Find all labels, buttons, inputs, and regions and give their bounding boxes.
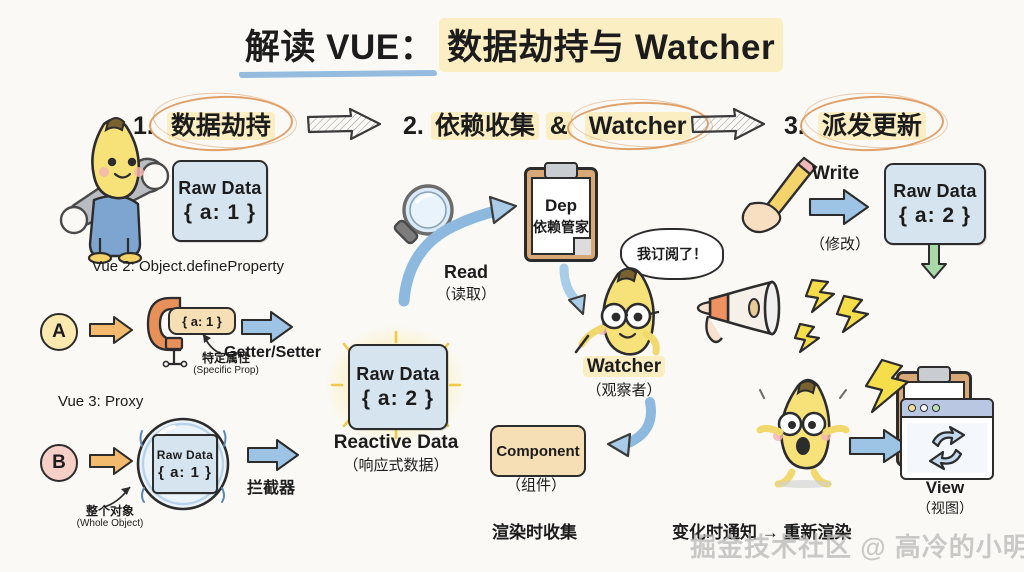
data-to-dep-arrow bbox=[920, 242, 948, 280]
proxy-raw-data-box: Raw Data { a: 1 } bbox=[152, 434, 218, 494]
raw-data-updated-title: Raw Data bbox=[893, 181, 976, 202]
raw-data-updated-value: { a: 2 } bbox=[899, 204, 971, 228]
page-title-segment-1: 解读 VUE： bbox=[241, 19, 439, 70]
view-browser-window bbox=[900, 398, 994, 480]
write-label-en: Write bbox=[812, 163, 859, 185]
option-b-badge: B bbox=[40, 444, 78, 482]
getter-setter-arrow bbox=[240, 310, 294, 344]
watcher-label-group: Watcher （观察者） bbox=[568, 356, 680, 400]
watermark: 掘金技术社区 @ 高冷的小明 bbox=[690, 527, 1024, 564]
browser-titlebar bbox=[902, 400, 992, 418]
whole-object-en: (Whole Object) bbox=[60, 518, 160, 529]
watcher-to-component-arrow bbox=[588, 400, 658, 458]
page-title-segment-2: 数据劫持与 Watcher bbox=[439, 18, 783, 72]
watcher-banana-illustration bbox=[572, 268, 676, 364]
option-a-letter: A bbox=[52, 321, 66, 343]
reactive-data-title: Raw Data bbox=[356, 364, 439, 385]
option-a-badge: A bbox=[40, 313, 78, 351]
megaphone-icon bbox=[694, 278, 790, 360]
step-3-label: 派发更新 bbox=[818, 112, 926, 140]
clipboard-clip-icon-right bbox=[917, 366, 951, 383]
step-2-heading: 2. 依赖收集 & Watcher bbox=[403, 106, 697, 142]
vue2-caption: Vue 2: Object.defineProperty bbox=[58, 258, 318, 275]
write-arrow bbox=[808, 188, 870, 226]
step-arrow-2-to-3 bbox=[690, 107, 766, 141]
watcher-bubble-text: 我订阅了！ bbox=[637, 244, 707, 264]
raw-data-title: Raw Data bbox=[178, 178, 261, 199]
dep-title-center: Dep bbox=[545, 196, 577, 216]
clamp-value-text: { a: 1 } bbox=[182, 314, 222, 329]
step-2-extra-label: Watcher bbox=[585, 112, 691, 140]
step-arrow-1-to-2 bbox=[306, 107, 382, 141]
step-1-label: 数据劫持 bbox=[167, 112, 275, 140]
browser-viewport bbox=[907, 423, 987, 473]
view-label: View bbox=[900, 478, 990, 498]
getter-setter-label: Getter/Setter bbox=[224, 344, 321, 362]
dep-subtitle-center: 依赖管家 bbox=[533, 217, 589, 237]
option-b-letter: B bbox=[52, 452, 66, 474]
refresh-icon bbox=[923, 426, 971, 470]
component-sublabel: （组件） bbox=[490, 477, 582, 494]
clipboard-clip-icon bbox=[544, 162, 578, 179]
raw-data-box-initial: Raw Data { a: 1 } bbox=[172, 160, 268, 242]
read-label: Read （读取） bbox=[428, 262, 504, 304]
step-3-heading: 3. 派发更新 bbox=[784, 106, 932, 142]
whole-object-annotation: 整个对象 (Whole Object) bbox=[60, 505, 160, 529]
watcher-label: Watcher bbox=[583, 356, 665, 377]
proxy-raw-title: Raw Data bbox=[157, 448, 213, 462]
step-2-label: 依赖收集 bbox=[431, 112, 539, 140]
raw-data-box-updated: Raw Data { a: 2 } bbox=[884, 163, 986, 245]
banana-mechanic-illustration bbox=[42, 108, 182, 263]
orange-arrow-a bbox=[88, 315, 134, 345]
step-2-number: 2. bbox=[403, 112, 424, 140]
infographic-canvas: 解读 VUE：数据劫持与 Watcher 1. 数据劫持 2. 依赖收集 & W… bbox=[0, 0, 1024, 572]
browser-dot-3-icon bbox=[932, 404, 940, 412]
watcher-sublabel: （观察者） bbox=[568, 379, 680, 400]
view-label-group: View （视图） bbox=[900, 478, 990, 518]
page-title: 解读 VUE：数据劫持与 Watcher bbox=[0, 18, 1024, 72]
specific-prop-en: (Specific Prop) bbox=[176, 365, 276, 376]
view-sublabel: （视图） bbox=[900, 498, 990, 518]
dep-clipboard-center: Dep 依赖管家 bbox=[524, 167, 598, 262]
component-label: Component bbox=[496, 443, 579, 460]
interceptor-arrow bbox=[246, 438, 300, 472]
whole-object-cn: 整个对象 bbox=[60, 505, 160, 518]
raw-data-value: { a: 1 } bbox=[184, 201, 256, 225]
reactive-data-caption: Reactive Data （响应式数据） bbox=[312, 432, 480, 475]
reactive-caption-cn: （响应式数据） bbox=[312, 454, 480, 475]
browser-dot-1-icon bbox=[908, 404, 916, 412]
section2-footer-note: 渲染时收集 bbox=[492, 518, 577, 543]
reactive-caption-en: Reactive Data bbox=[312, 432, 480, 454]
interceptor-label: 拦截器 bbox=[247, 474, 295, 498]
read-label-en: Read bbox=[428, 262, 504, 283]
reactive-data-box: Raw Data { a: 2 } bbox=[348, 344, 448, 430]
component-box: Component bbox=[490, 425, 586, 477]
proxy-raw-value: { a: 1 } bbox=[158, 464, 212, 481]
browser-dot-2-icon bbox=[920, 404, 928, 412]
vue3-caption: Vue 3: Proxy bbox=[58, 393, 238, 410]
excited-banana-illustration bbox=[756, 380, 852, 486]
read-label-cn: （读取） bbox=[428, 283, 504, 304]
paper-fold-icon bbox=[573, 237, 591, 255]
reactive-data-value: { a: 2 } bbox=[362, 387, 434, 411]
write-label-cn: （修改） bbox=[810, 233, 870, 254]
